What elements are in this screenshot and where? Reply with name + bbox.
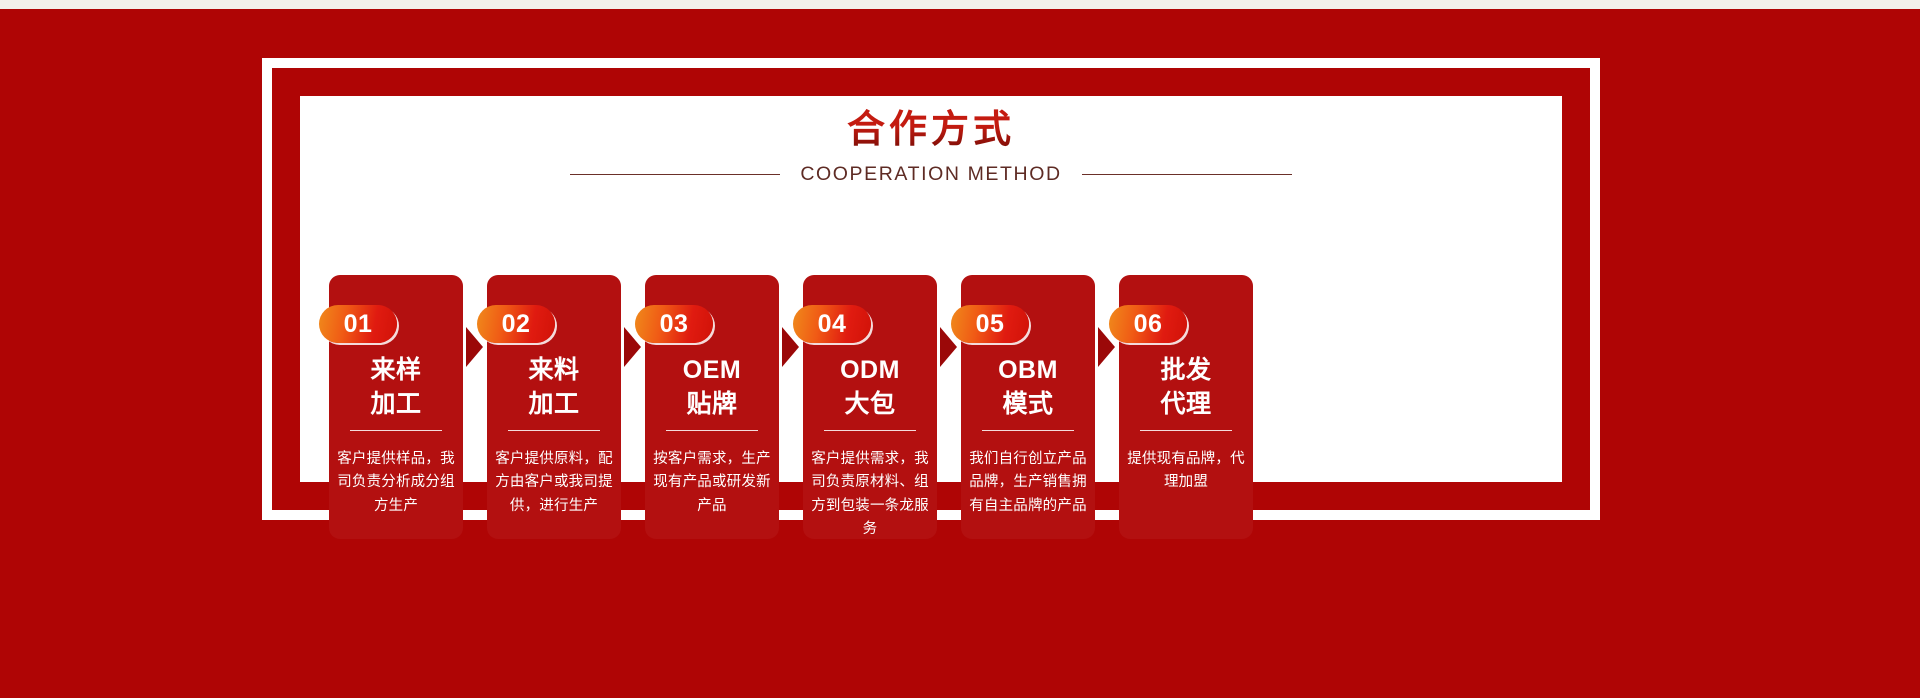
step-number-badge: 04 <box>793 305 871 343</box>
card-title: OBM 模式 <box>961 354 1095 421</box>
card-title-line1: OEM <box>683 356 741 384</box>
card-title-line2: 模式 <box>961 388 1095 422</box>
card-divider <box>350 430 442 431</box>
card-description: 客户提供需求，我司负责原材料、组方到包装一条龙服务 <box>811 448 929 542</box>
cooperation-card[interactable]: 04 ODM 大包 客户提供需求，我司负责原材料、组方到包装一条龙服务 <box>803 275 937 539</box>
step-number-badge: 01 <box>319 305 397 343</box>
card-title-line2: 贴牌 <box>645 388 779 422</box>
decorative-frame-band: 合作方式 COOPERATION METHOD 01 来样 加工 <box>272 68 1590 510</box>
cooperation-card[interactable]: 01 来样 加工 客户提供样品，我司负责分析成分组方生产 <box>329 275 463 539</box>
page-title: 合作方式 <box>847 108 1015 153</box>
step-number: 02 <box>502 310 531 339</box>
step-number-badge: 05 <box>951 305 1029 343</box>
card-title-line1: ODM <box>840 356 900 384</box>
card-title-line1: OBM <box>998 356 1058 384</box>
card-title-line2: 大包 <box>803 388 937 422</box>
card-description: 客户提供原料，配方由客户或我司提供，进行生产 <box>495 448 613 518</box>
card-title: 来料 加工 <box>487 354 621 421</box>
step-number-badge: 02 <box>477 305 555 343</box>
card-description: 我们自行创立产品品牌，生产销售拥有自主品牌的产品 <box>969 448 1087 518</box>
section-header: 合作方式 COOPERATION METHOD <box>300 108 1562 186</box>
card-title-line2: 加工 <box>487 388 621 422</box>
rule-left <box>570 174 780 175</box>
step-number: 03 <box>660 310 689 339</box>
card-description: 按客户需求，生产现有产品或研发新产品 <box>653 448 771 518</box>
step-number: 06 <box>1134 310 1163 339</box>
card-title: OEM 贴牌 <box>645 354 779 421</box>
step-number: 01 <box>344 310 373 339</box>
content-panel: 合作方式 COOPERATION METHOD 01 来样 加工 <box>300 96 1562 482</box>
card-title: 来样 加工 <box>329 354 463 421</box>
cooperation-card[interactable]: 05 OBM 模式 我们自行创立产品品牌，生产销售拥有自主品牌的产品 <box>961 275 1095 539</box>
top-edge-strip <box>0 0 1920 9</box>
step-number-badge: 03 <box>635 305 713 343</box>
cooperation-card[interactable]: 02 来料 加工 客户提供原料，配方由客户或我司提供，进行生产 <box>487 275 621 539</box>
cooperation-card[interactable]: 03 OEM 贴牌 按客户需求，生产现有产品或研发新产品 <box>645 275 779 539</box>
card-divider <box>824 430 916 431</box>
card-divider <box>666 430 758 431</box>
rule-right <box>1082 174 1292 175</box>
card-divider <box>1140 430 1232 431</box>
card-divider <box>982 430 1074 431</box>
card-title-line1: 来料 <box>528 356 579 384</box>
card-title-line1: 批发 <box>1160 356 1211 384</box>
cooperation-card[interactable]: 06 批发 代理 提供现有品牌，代理加盟 <box>1119 275 1253 539</box>
card-title: 批发 代理 <box>1119 354 1253 421</box>
card-title-line2: 加工 <box>329 388 463 422</box>
card-title-line2: 代理 <box>1119 388 1253 422</box>
card-title: ODM 大包 <box>803 354 937 421</box>
card-description: 提供现有品牌，代理加盟 <box>1127 448 1245 495</box>
step-number-badge: 06 <box>1109 305 1187 343</box>
decorative-frame-outer: 合作方式 COOPERATION METHOD 01 来样 加工 <box>262 58 1600 520</box>
card-divider <box>508 430 600 431</box>
card-description: 客户提供样品，我司负责分析成分组方生产 <box>337 448 455 518</box>
card-title-line1: 来样 <box>370 356 421 384</box>
subtitle-row: COOPERATION METHOD <box>300 163 1562 186</box>
step-number: 05 <box>976 310 1005 339</box>
poster-canvas: 合作方式 COOPERATION METHOD 01 来样 加工 <box>0 0 1920 698</box>
page-subtitle: COOPERATION METHOD <box>800 163 1061 186</box>
step-number: 04 <box>818 310 847 339</box>
